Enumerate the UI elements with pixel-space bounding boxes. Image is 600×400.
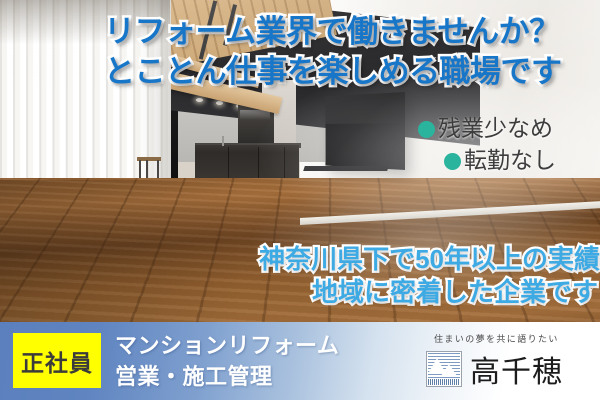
bullet-dot-icon: [444, 153, 461, 170]
benefit-label: 転勤なし: [464, 147, 556, 173]
job-title-line-1: マンションリフォーム: [115, 330, 339, 361]
subheadline: 神奈川県下で50年以上の実績 地域に密着した企業です: [196, 243, 600, 310]
company-logo: 住まいの夢を共に語りたい 高千穂: [424, 332, 592, 392]
logo-peaks-shape: [428, 357, 458, 379]
subheadline-line-2: 地域に密着した企業です: [196, 276, 600, 309]
logo-row: 高千穂: [426, 347, 563, 391]
benefit-item: 転勤なし: [418, 145, 556, 177]
headline-line-2: とことん仕事を楽しめる職場です: [104, 52, 596, 92]
company-tagline: 住まいの夢を共に語りたい: [434, 332, 559, 345]
subheadline-line-1: 神奈川県下で50年以上の実績: [196, 243, 600, 276]
job-title: マンションリフォーム 営業・施工管理: [115, 330, 339, 392]
benefits-list: 残業少なめ 転勤なし: [418, 113, 556, 176]
benefit-item: 残業少なめ: [418, 113, 556, 145]
headline: リフォーム業界で働きませんか？ とことん仕事を楽しめる職場です: [104, 12, 596, 93]
company-name: 高千穂: [470, 347, 563, 391]
employment-type-label: 正社員: [21, 344, 93, 378]
benefit-label: 残業少なめ: [438, 115, 553, 141]
logo-caption-text: [428, 379, 460, 385]
job-title-line-2: 営業・施工管理: [115, 361, 339, 392]
footer-bar: 正社員 マンションリフォーム 営業・施工管理 住まいの夢を共に語りたい 高千穂: [0, 322, 600, 400]
headline-line-1: リフォーム業界で働きませんか？: [104, 12, 596, 52]
banner-ad: リフォーム業界で働きませんか？ とことん仕事を楽しめる職場です 残業少なめ 転勤…: [0, 0, 600, 400]
bullet-dot-icon: [418, 121, 435, 138]
mountain-logo-icon: [426, 351, 462, 387]
employment-type-badge: 正社員: [13, 333, 101, 388]
